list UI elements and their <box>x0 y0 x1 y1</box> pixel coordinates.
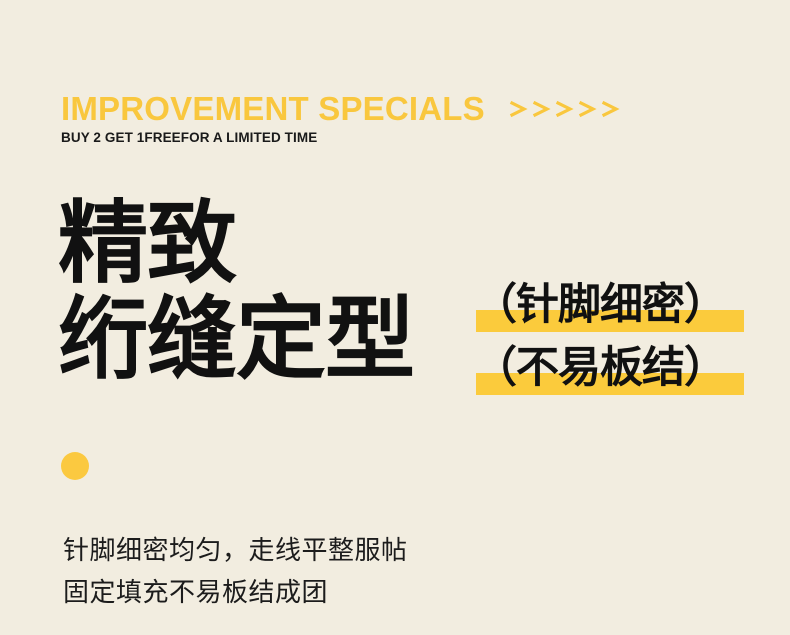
body-line-2: 固定填充不易板结成团 <box>63 572 408 614</box>
header-title: IMPROVEMENT SPECIALS <box>61 92 485 125</box>
chevron-right-icon <box>578 100 600 118</box>
chevron-group <box>509 100 623 118</box>
callout-text-1: （针脚细密） <box>474 278 726 332</box>
chevron-right-icon <box>532 100 554 118</box>
headline-line-2: 绗缝定型 <box>58 292 414 388</box>
chevron-right-icon <box>601 100 623 118</box>
callout-line-1: （针脚细密） <box>474 278 726 341</box>
feature-callout: （针脚细密） （不易板结） <box>474 278 726 404</box>
body-copy: 针脚细密均匀，走线平整服帖 固定填充不易板结成团 <box>63 530 408 614</box>
headline-line-1: 精致 <box>58 196 414 292</box>
header-title-row: IMPROVEMENT SPECIALS <box>61 92 623 125</box>
chevron-right-icon <box>509 100 531 118</box>
chevron-right-icon <box>555 100 577 118</box>
callout-text-2: （不易板结） <box>474 341 726 395</box>
promo-poster: IMPROVEMENT SPECIALS BUY 2 GET 1FREEFOR … <box>0 0 790 635</box>
page-title: 精致 绗缝定型 <box>58 196 414 388</box>
body-line-1: 针脚细密均匀，走线平整服帖 <box>63 530 408 572</box>
callout-line-2: （不易板结） <box>474 341 726 404</box>
header-subtitle: BUY 2 GET 1FREEFOR A LIMITED TIME <box>61 131 317 145</box>
circle-dot-icon <box>61 452 89 480</box>
